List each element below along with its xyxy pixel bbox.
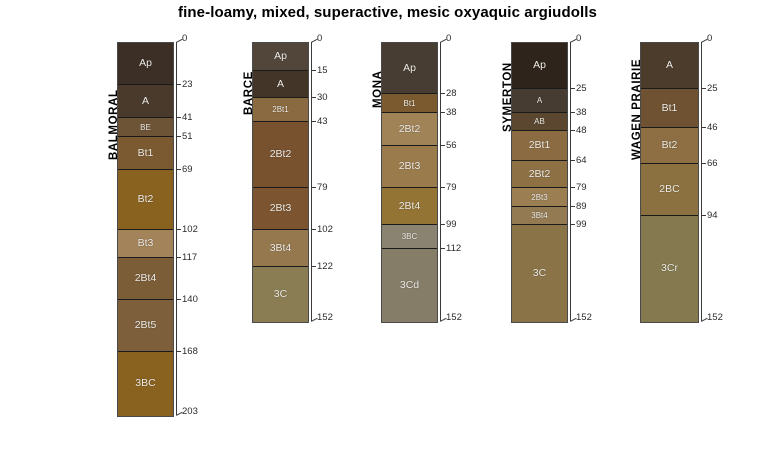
horizon-label: 3Cd	[382, 279, 437, 291]
soil-horizon[interactable]: Ap	[382, 43, 437, 94]
horizon-label: 2Bt1	[512, 139, 567, 151]
horizon-label: A	[512, 96, 567, 105]
horizon-label: Ap	[253, 50, 308, 62]
soil-horizon[interactable]: Ap	[118, 43, 173, 85]
depth-tick	[440, 145, 445, 146]
depth-label: 79	[576, 182, 587, 193]
soil-horizon[interactable]: 2Bt2	[382, 113, 437, 146]
soil-horizon[interactable]: 2Bt3	[253, 188, 308, 230]
depth-label: 46	[707, 122, 718, 133]
depth-label: 25	[576, 83, 587, 94]
horizon-label: 3Cr	[641, 262, 698, 274]
depth-label: 30	[317, 92, 328, 103]
depth-label: 152	[317, 312, 333, 323]
soil-horizon[interactable]: 2Bt1	[512, 131, 567, 161]
depth-tick	[570, 160, 575, 161]
depth-tick	[570, 187, 575, 188]
depth-label: 41	[182, 112, 193, 123]
depth-label: 0	[576, 33, 581, 44]
profile-column: ApBt12Bt22Bt32Bt43BC3Cd	[381, 42, 438, 323]
depth-label: 64	[576, 155, 587, 166]
horizon-label: 3BC	[382, 232, 437, 241]
depth-label: 66	[707, 158, 718, 169]
profile-column: ApA2Bt12Bt22Bt33Bt43C	[252, 42, 309, 323]
depth-label: 15	[317, 65, 328, 76]
horizon-label: 2Bt2	[253, 148, 308, 160]
soil-horizon[interactable]: 2Bt2	[512, 161, 567, 188]
soil-horizon[interactable]: Ap	[253, 43, 308, 71]
depth-label: 89	[576, 201, 587, 212]
depth-tick	[570, 206, 575, 207]
soil-horizon[interactable]: Bt1	[118, 137, 173, 170]
depth-tick	[176, 84, 181, 85]
soil-horizon[interactable]: 2Bt3	[512, 188, 567, 207]
soil-horizon[interactable]: A	[641, 43, 698, 89]
depth-label: 0	[317, 33, 322, 44]
soil-horizon[interactable]: 2Bt4	[382, 188, 437, 225]
depth-tick	[440, 112, 445, 113]
depth-label: 102	[317, 224, 333, 235]
depth-axis	[440, 42, 441, 321]
depth-tick	[176, 257, 181, 258]
horizon-label: Bt2	[641, 139, 698, 151]
horizon-label: 2Bt3	[253, 202, 308, 214]
horizon-label: Bt1	[382, 99, 437, 108]
soil-horizon[interactable]: Bt2	[118, 170, 173, 230]
soil-horizon[interactable]: 3Cr	[641, 216, 698, 322]
soil-horizon[interactable]: A	[253, 71, 308, 98]
horizon-label: BE	[118, 123, 173, 132]
soil-horizon[interactable]: 2Bt3	[382, 146, 437, 188]
depth-label: 0	[446, 33, 451, 44]
depth-label: 112	[446, 243, 461, 254]
horizon-label: Ap	[512, 59, 567, 71]
depth-tick	[176, 229, 181, 230]
soil-horizon[interactable]: 3C	[253, 267, 308, 322]
profile-column: ApABEBt1Bt2Bt32Bt42Bt53BC	[117, 42, 174, 417]
soil-horizon[interactable]: 3BC	[118, 352, 173, 416]
depth-tick	[570, 88, 575, 89]
depth-tick	[701, 215, 706, 216]
horizon-label: 3Bt4	[253, 242, 308, 254]
depth-label: 48	[576, 125, 587, 136]
depth-label: 79	[317, 182, 328, 193]
horizon-label: 2Bt5	[118, 319, 173, 331]
depth-tick	[176, 136, 181, 137]
depth-label: 38	[446, 107, 457, 118]
soil-horizon[interactable]: Bt1	[641, 89, 698, 128]
depth-label: 69	[182, 164, 193, 175]
soil-horizon[interactable]: BE	[118, 118, 173, 137]
depth-label: 51	[182, 131, 193, 142]
depth-tick	[440, 224, 445, 225]
depth-label: 99	[576, 219, 587, 230]
horizon-label: A	[118, 95, 173, 107]
depth-label: 152	[446, 312, 462, 323]
profile-column: ABt1Bt22BC3Cr	[640, 42, 699, 323]
depth-tick	[701, 88, 706, 89]
soil-horizon[interactable]: A	[118, 85, 173, 118]
soil-horizon[interactable]: 3Bt4	[512, 207, 567, 225]
soil-horizon[interactable]: 2Bt1	[253, 98, 308, 122]
soil-horizon[interactable]: Bt3	[118, 230, 173, 258]
horizon-label: Bt1	[118, 147, 173, 159]
depth-label: 140	[182, 294, 198, 305]
page-title: fine-loamy, mixed, superactive, mesic ox…	[0, 4, 775, 21]
horizon-label: 2Bt3	[382, 160, 437, 172]
depth-label: 203	[182, 406, 198, 417]
horizon-label: 2Bt2	[382, 123, 437, 135]
depth-label: 38	[576, 107, 587, 118]
horizon-label: Ap	[118, 57, 173, 69]
horizon-label: 2Bt2	[512, 168, 567, 180]
depth-tick	[440, 93, 445, 94]
depth-label: 23	[182, 79, 193, 90]
depth-axis	[570, 42, 571, 321]
depth-tick	[570, 224, 575, 225]
depth-label: 99	[446, 219, 457, 230]
horizon-label: A	[253, 78, 308, 90]
depth-tick	[176, 351, 181, 352]
depth-tick	[440, 187, 445, 188]
depth-tick	[570, 112, 575, 113]
soil-horizon[interactable]: Bt1	[382, 94, 437, 113]
soil-profile-figure: fine-loamy, mixed, superactive, mesic ox…	[0, 0, 775, 450]
depth-label: 102	[182, 224, 198, 235]
depth-label: 94	[707, 210, 718, 221]
depth-label: 152	[707, 312, 723, 323]
depth-label: 56	[446, 140, 457, 151]
horizon-label: Bt1	[641, 102, 698, 114]
profile-column: ApAAB2Bt12Bt22Bt33Bt43C	[511, 42, 568, 323]
horizon-label: 3Bt4	[512, 211, 567, 220]
soil-horizon[interactable]: Ap	[512, 43, 567, 89]
depth-label: 79	[446, 182, 457, 193]
horizon-label: AB	[512, 117, 567, 126]
soil-horizon[interactable]: 2BC	[641, 164, 698, 216]
depth-tick	[176, 169, 181, 170]
depth-label: 122	[317, 261, 333, 272]
depth-label: 168	[182, 346, 198, 357]
depth-tick	[440, 248, 445, 249]
depth-tick	[311, 229, 316, 230]
soil-horizon[interactable]: 2Bt4	[118, 258, 173, 300]
soil-horizon[interactable]: 2Bt5	[118, 300, 173, 352]
depth-tick	[311, 266, 316, 267]
depth-label: 117	[182, 252, 197, 263]
soil-horizon[interactable]: 3Cd	[382, 249, 437, 322]
depth-label: 0	[182, 33, 187, 44]
depth-label: 43	[317, 116, 328, 127]
horizon-label: 3BC	[118, 377, 173, 389]
horizon-label: 2Bt1	[253, 105, 308, 114]
soil-horizon[interactable]: 3C	[512, 225, 567, 322]
horizon-label: 2Bt4	[118, 272, 173, 284]
horizon-label: 2Bt3	[512, 193, 567, 202]
depth-tick	[176, 299, 181, 300]
horizon-label: Bt2	[118, 193, 173, 205]
depth-tick	[311, 187, 316, 188]
soil-horizon[interactable]: 3Bt4	[253, 230, 308, 267]
depth-tick	[701, 127, 706, 128]
horizon-label: Ap	[382, 62, 437, 74]
horizon-label: 3C	[253, 288, 308, 300]
depth-tick	[311, 97, 316, 98]
horizon-label: 2Bt4	[382, 200, 437, 212]
soil-horizon[interactable]: A	[512, 89, 567, 113]
soil-horizon[interactable]: 3BC	[382, 225, 437, 249]
horizon-label: Bt3	[118, 237, 173, 249]
soil-horizon[interactable]: AB	[512, 113, 567, 131]
horizon-label: 2BC	[641, 183, 698, 195]
depth-label: 0	[707, 33, 712, 44]
depth-label: 28	[446, 88, 457, 99]
soil-horizon[interactable]: Bt2	[641, 128, 698, 164]
depth-tick	[701, 163, 706, 164]
depth-tick	[176, 117, 181, 118]
soil-horizon[interactable]: 2Bt2	[253, 122, 308, 188]
depth-tick	[570, 130, 575, 131]
depth-axis	[701, 42, 702, 321]
depth-axis	[311, 42, 312, 321]
depth-label: 25	[707, 83, 718, 94]
horizon-label: 3C	[512, 267, 567, 279]
depth-label: 152	[576, 312, 592, 323]
horizon-label: A	[641, 59, 698, 71]
depth-tick	[311, 121, 316, 122]
depth-tick	[311, 70, 316, 71]
